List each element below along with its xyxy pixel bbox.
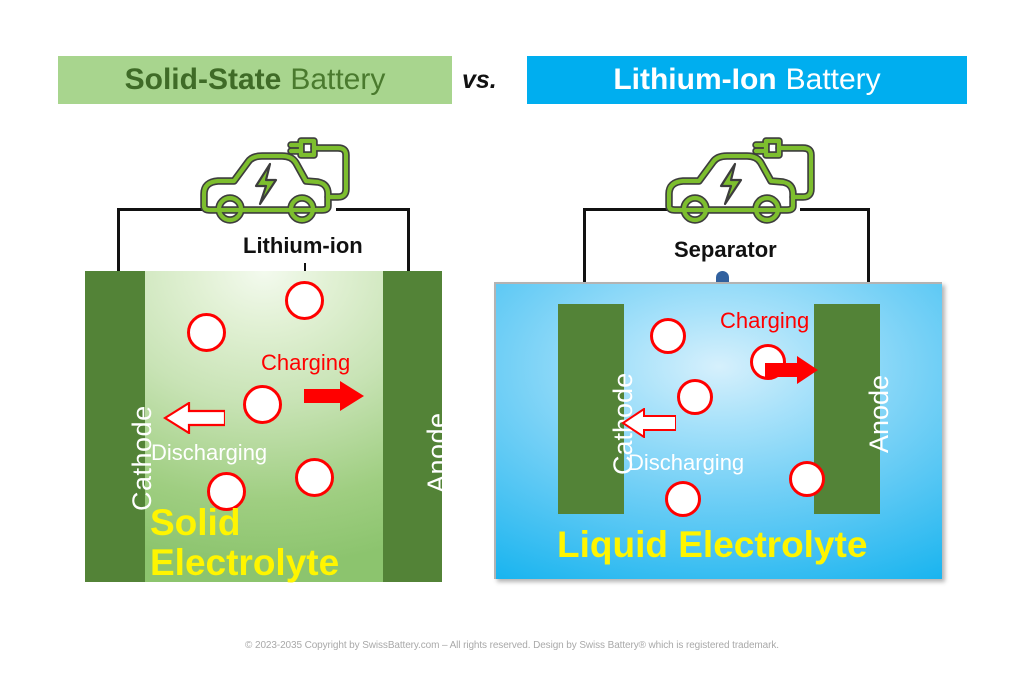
callout-separator: Separator <box>674 237 777 263</box>
lithium-ion-particle <box>243 385 282 424</box>
lithium-ion-particle <box>677 379 713 415</box>
discharging-arrow-left-icon <box>621 408 676 438</box>
infographic-canvas: Solid-State Battery vs. Lithium-Ion Batt… <box>0 0 1024 697</box>
lithium-ion-particle <box>665 481 701 517</box>
lightning-bolt-icon <box>721 164 741 204</box>
solid-electrolyte-caption-line1: Solid <box>150 503 339 543</box>
solid-electrolyte-caption: Solid Electrolyte <box>150 503 339 583</box>
charging-arrow-right-icon <box>304 380 366 412</box>
wire-left-cathode-vertical <box>117 208 120 272</box>
left-charging-label: Charging <box>261 350 350 376</box>
left-anode-label: Anode <box>422 412 453 493</box>
header-left-light: Battery <box>290 63 385 97</box>
header-lithium-ion-battery: Lithium-Ion Battery <box>527 56 967 104</box>
header-solid-state-battery: Solid-State Battery <box>58 56 452 104</box>
lithium-ion-particle <box>285 281 324 320</box>
electric-car-charging-icon <box>651 134 826 224</box>
lithium-ion-particle <box>789 461 825 497</box>
header-left-strong: Solid-State <box>125 63 282 97</box>
right-anode-label: Anode <box>864 375 895 453</box>
lightning-bolt-icon <box>256 164 276 204</box>
wire-left-anode-vertical <box>407 208 410 272</box>
solid-electrolyte-caption-line2: Electrolyte <box>150 543 339 583</box>
discharging-arrow-left-icon <box>163 402 225 434</box>
footer-copyright: © 2023-2035 Copyright by SwissBattery.co… <box>0 640 1024 651</box>
callout-lithium-ion: Lithium-ion <box>243 233 363 259</box>
right-discharging-label: Discharging <box>628 450 744 476</box>
header-right-strong: Lithium-Ion <box>613 63 776 97</box>
lithium-ion-particle <box>295 458 334 497</box>
right-charging-label: Charging <box>720 308 809 334</box>
electric-car-charging-icon <box>186 134 361 224</box>
charging-arrow-right-icon <box>765 355 820 385</box>
lithium-ion-particle <box>187 313 226 352</box>
versus-label: vs. <box>462 66 497 95</box>
left-discharging-label: Discharging <box>151 440 267 466</box>
lithium-ion-particle <box>650 318 686 354</box>
header-right-light: Battery <box>786 63 881 97</box>
liquid-electrolyte-caption: Liquid Electrolyte <box>557 525 867 565</box>
